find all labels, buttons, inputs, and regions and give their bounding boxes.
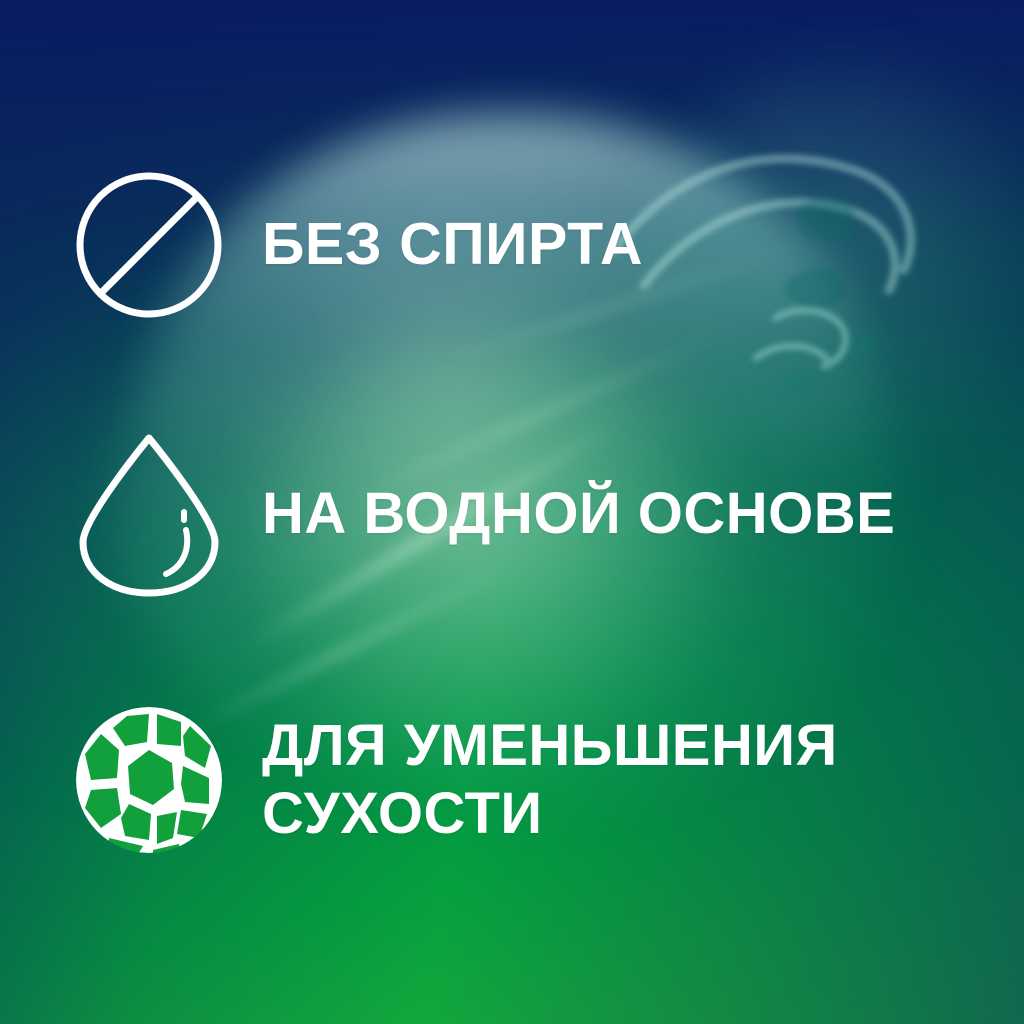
- feature-list: БЕЗ СПИРТА НА ВОДНОЙ ОСНОВЕ: [0, 0, 1024, 1024]
- no-alcohol-prohibition-icon: [74, 170, 224, 320]
- feature-label: БЕЗ СПИРТА: [262, 211, 643, 278]
- cell-molecule-icon: [74, 705, 224, 855]
- benefits-banner: БЕЗ СПИРТА НА ВОДНОЙ ОСНОВЕ: [0, 0, 1024, 1024]
- feature-row: БЕЗ СПИРТА: [0, 170, 1024, 320]
- feature-label: ДЛЯ УМЕНЬШЕНИЯ СУХОСТИ: [262, 712, 838, 848]
- feature-label: НА ВОДНОЙ ОСНОВЕ: [262, 481, 895, 547]
- water-droplet-icon: [74, 439, 224, 589]
- feature-row: НА ВОДНОЙ ОСНОВЕ: [0, 430, 1024, 598]
- feature-row: ДЛЯ УМЕНЬШЕНИЯ СУХОСТИ: [0, 700, 1024, 860]
